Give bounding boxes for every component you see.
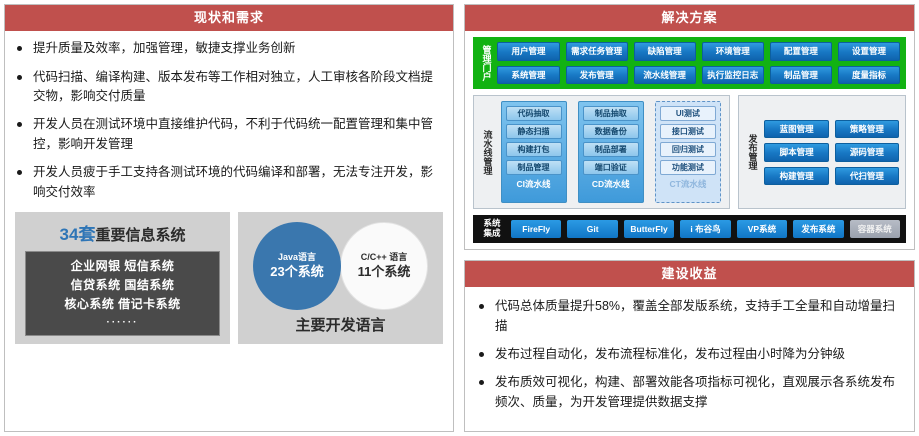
languages-caption: 主要开发语言 <box>295 314 385 335</box>
pipeline-item-ui-test[interactable]: UI测试 <box>660 106 716 121</box>
benefit-panel: 建设收益 代码总体质量提升58%，覆盖全部发版系统，支持手工全量和自动增量扫描 … <box>464 260 915 432</box>
current-status-panel-body: 提升质量及效率，加强管理，敏捷支撑业务创新 代码扫描、编译构建、版本发布等工作相… <box>5 31 453 431</box>
portal-chip-pipeline-management[interactable]: 流水线管理 <box>634 66 696 85</box>
release-chip-blueprint-management[interactable]: 蓝图管理 <box>764 120 828 139</box>
management-portal-label: 管理门户 <box>479 42 492 84</box>
list-item: 提升质量及效率，加强管理，敏捷支撑业务创新 <box>15 39 443 58</box>
venn-java-value: 23个系统 <box>270 264 323 280</box>
portal-chip-artifact-management[interactable]: 制品管理 <box>770 66 832 85</box>
pipeline-column-ct: UI测试 接口测试 回归测试 功能测试 CT流水线 <box>655 101 721 203</box>
pipeline-management-label: 流水线管理 <box>480 101 493 203</box>
integration-chip-cuckoo[interactable]: i 布谷鸟 <box>680 220 730 239</box>
important-systems-title: 34套重要信息系统 <box>60 220 186 245</box>
integration-chip-vp-system[interactable]: VP系统 <box>737 220 787 239</box>
release-chip-policy-management[interactable]: 策略管理 <box>835 120 899 139</box>
venn-cpp-label: C/C++ 语言 <box>361 252 408 263</box>
list-item: 企业网银 短信系统 <box>71 257 175 274</box>
portal-chip-configuration-management[interactable]: 配置管理 <box>770 42 832 61</box>
ellipsis-text: ······ <box>107 317 139 328</box>
right-column: 解决方案 管理门户 用户管理 需求任务管理 缺陷管理 环境管理 配置管理 设置管… <box>464 4 915 432</box>
important-systems-title-text: 重要信息系统 <box>95 227 185 244</box>
venn-circle-cpp: C/C++ 语言 11个系统 <box>340 222 428 310</box>
list-item: 代码扫描、编译构建、版本发布等工作相对独立，人工审核各阶段文档提交物，影响交付质… <box>15 68 443 107</box>
important-systems-list: 企业网银 短信系统 信贷系统 国结系统 核心系统 借记卡系统 ······ <box>25 251 220 336</box>
important-systems-count: 34套 <box>60 225 96 244</box>
pipeline-caption-cd: CD流水线 <box>583 180 639 189</box>
benefit-panel-header: 建设收益 <box>465 261 914 287</box>
integration-chip-git[interactable]: Git <box>567 220 617 239</box>
system-integration-label-line2: 集成 <box>479 229 505 239</box>
list-item: 信贷系统 国结系统 <box>71 276 175 293</box>
venn-cpp-value: 11个系统 <box>358 264 411 280</box>
pipeline-item-code-extract[interactable]: 代码抽取 <box>506 106 562 121</box>
portal-chip-settings-management[interactable]: 设置管理 <box>838 42 900 61</box>
management-portal-block: 管理门户 用户管理 需求任务管理 缺陷管理 环境管理 配置管理 设置管理 系统管… <box>473 37 906 89</box>
pipeline-item-regression-test[interactable]: 回归测试 <box>660 142 716 157</box>
benefit-panel-body: 代码总体质量提升58%，覆盖全部发版系统，支持手工全量和自动增量扫描 发布过程自… <box>465 287 914 431</box>
solution-panel: 解决方案 管理门户 用户管理 需求任务管理 缺陷管理 环境管理 配置管理 设置管… <box>464 4 915 250</box>
list-item: 核心系统 借记卡系统 <box>64 295 180 312</box>
pipeline-item-artifact-extract[interactable]: 制品抽取 <box>583 106 639 121</box>
system-integration-label: 系统 集成 <box>479 219 505 239</box>
pipeline-columns: 代码抽取 静态扫描 构建打包 制品管理 CI流水线 制品抽取 数据备份 制品部署 <box>498 101 723 203</box>
stats-strip: 34套重要信息系统 企业网银 短信系统 信贷系统 国结系统 核心系统 借记卡系统… <box>15 212 443 344</box>
management-portal-grid: 用户管理 需求任务管理 缺陷管理 环境管理 配置管理 设置管理 系统管理 发布管… <box>497 42 900 84</box>
venn-diagram: Java语言 23个系统 C/C++ 语言 11个系统 <box>253 222 428 310</box>
benefit-bullet-list: 代码总体质量提升58%，覆盖全部发版系统，支持手工全量和自动增量扫描 发布过程自… <box>477 297 902 412</box>
languages-card: Java语言 23个系统 C/C++ 语言 11个系统 主要开发语言 <box>238 212 443 344</box>
list-item: 发布过程自动化，发布流程标准化，发布过程由小时降为分钟级 <box>477 345 902 364</box>
release-management-block: 发布管理 蓝图管理 策略管理 脚本管理 源码管理 构建管理 代扫管理 <box>738 95 906 209</box>
pipeline-column-cd: 制品抽取 数据备份 制品部署 端口验证 CD流水线 <box>578 101 644 203</box>
release-chip-source-management[interactable]: 源码管理 <box>835 143 899 162</box>
list-item: 发布质效可视化，构建、部署效能各项指标可视化，直观展示各系统发布频次、质量，为开… <box>477 373 902 412</box>
solution-panel-body: 管理门户 用户管理 需求任务管理 缺陷管理 环境管理 配置管理 设置管理 系统管… <box>465 31 914 249</box>
venn-circle-java: Java语言 23个系统 <box>253 222 341 310</box>
pipeline-caption-ci: CI流水线 <box>506 180 562 189</box>
list-item: 开发人员疲于手工支持各测试环境的代码编译和部署，无法专注开发，影响交付效率 <box>15 163 443 202</box>
list-item: 代码总体质量提升58%，覆盖全部发版系统，支持手工全量和自动增量扫描 <box>477 297 902 336</box>
system-integration-list: FireFly Git ButterFly i 布谷鸟 VP系统 发布系统 容器… <box>511 220 900 239</box>
portal-chip-execution-monitor-log[interactable]: 执行监控日志 <box>702 66 764 85</box>
venn-java-label: Java语言 <box>278 252 316 263</box>
pipeline-item-static-scan[interactable]: 静态扫描 <box>506 124 562 139</box>
portal-chip-defect-management[interactable]: 缺陷管理 <box>634 42 696 61</box>
release-management-label: 发布管理 <box>745 101 758 203</box>
pipeline-item-artifact-deploy[interactable]: 制品部署 <box>583 142 639 157</box>
pipeline-item-artifact-management[interactable]: 制品管理 <box>506 160 562 175</box>
portal-chip-environment-management[interactable]: 环境管理 <box>702 42 764 61</box>
pipeline-column-ci: 代码抽取 静态扫描 构建打包 制品管理 CI流水线 <box>501 101 567 203</box>
integration-chip-firefly[interactable]: FireFly <box>511 220 561 239</box>
integration-chip-butterfly[interactable]: ButterFly <box>624 220 674 239</box>
release-chip-script-management[interactable]: 脚本管理 <box>764 143 828 162</box>
current-status-bullet-list: 提升质量及效率，加强管理，敏捷支撑业务创新 代码扫描、编译构建、版本发布等工作相… <box>15 39 443 202</box>
pipeline-item-port-verify[interactable]: 端口验证 <box>583 160 639 175</box>
system-integration-block: 系统 集成 FireFly Git ButterFly i 布谷鸟 VP系统 发… <box>473 215 906 243</box>
portal-chip-metrics[interactable]: 度量指标 <box>838 66 900 85</box>
list-item: 开发人员在测试环境中直接维护代码，不利于代码统一配置管理和集中管控，影响开发管理 <box>15 115 443 154</box>
pipeline-item-interface-test[interactable]: 接口测试 <box>660 124 716 139</box>
portal-chip-requirement-task-management[interactable]: 需求任务管理 <box>566 42 628 61</box>
pipeline-caption-ct: CT流水线 <box>660 180 716 189</box>
portal-chip-release-management[interactable]: 发布管理 <box>566 66 628 85</box>
slide-root: 现状和需求 提升质量及效率，加强管理，敏捷支撑业务创新 代码扫描、编译构建、版本… <box>0 0 919 436</box>
release-chip-build-management[interactable]: 构建管理 <box>764 167 828 186</box>
pipeline-item-build-package[interactable]: 构建打包 <box>506 142 562 157</box>
current-status-panel: 现状和需求 提升质量及效率，加强管理，敏捷支撑业务创新 代码扫描、编译构建、版本… <box>4 4 454 432</box>
pipeline-item-function-test[interactable]: 功能测试 <box>660 160 716 175</box>
solution-panel-header: 解决方案 <box>465 5 914 31</box>
pipeline-item-data-backup[interactable]: 数据备份 <box>583 124 639 139</box>
current-status-panel-header: 现状和需求 <box>5 5 453 31</box>
left-column: 现状和需求 提升质量及效率，加强管理，敏捷支撑业务创新 代码扫描、编译构建、版本… <box>4 4 454 432</box>
pipeline-and-release-row: 流水线管理 代码抽取 静态扫描 构建打包 制品管理 CI流水线 制品抽取 <box>473 95 906 209</box>
integration-chip-release-system[interactable]: 发布系统 <box>793 220 843 239</box>
important-systems-card: 34套重要信息系统 企业网银 短信系统 信贷系统 国结系统 核心系统 借记卡系统… <box>15 212 230 344</box>
portal-chip-system-management[interactable]: 系统管理 <box>497 66 559 85</box>
portal-chip-user-management[interactable]: 用户管理 <box>497 42 559 61</box>
release-chip-code-scan-management[interactable]: 代扫管理 <box>835 167 899 186</box>
release-management-grid: 蓝图管理 策略管理 脚本管理 源码管理 构建管理 代扫管理 <box>764 101 899 203</box>
integration-chip-container-system[interactable]: 容器系统 <box>850 220 900 239</box>
pipeline-management-block: 流水线管理 代码抽取 静态扫描 构建打包 制品管理 CI流水线 制品抽取 <box>473 95 730 209</box>
